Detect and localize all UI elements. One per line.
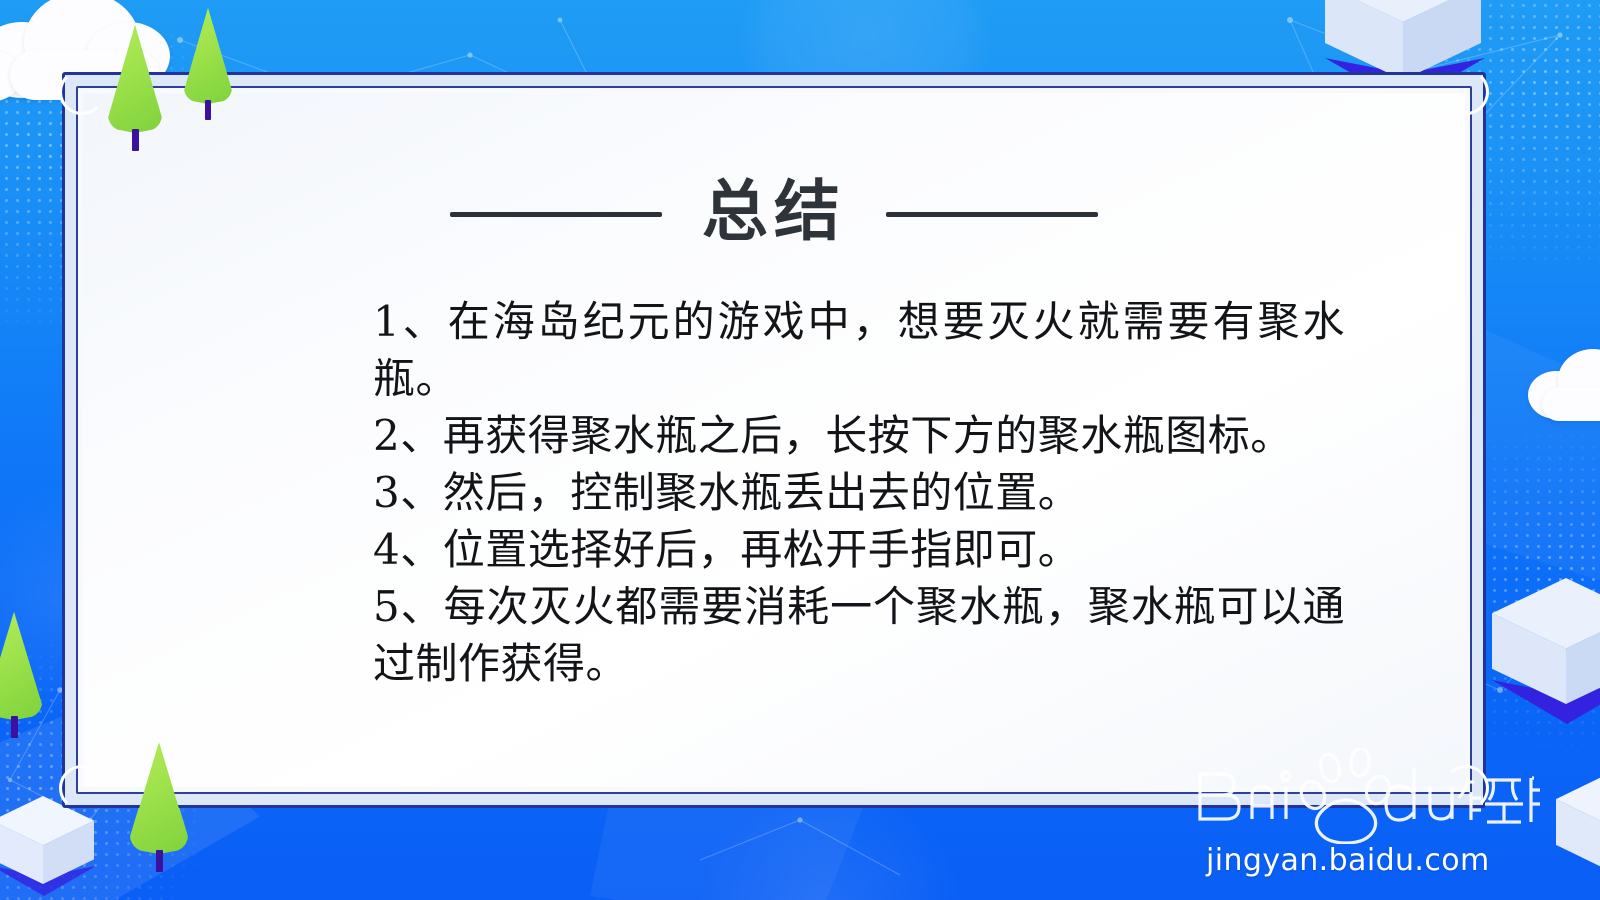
cube-shadow-bottom-left [0, 866, 96, 896]
summary-line-4: 4、位置选择好后，再松开手指即可。 [373, 521, 1345, 578]
summary-line-3: 3、然后，控制聚水瓶丢出去的位置。 [373, 464, 1345, 521]
summary-line-2: 2、再获得聚水瓶之后，长按下方的聚水瓶图标。 [373, 407, 1345, 464]
frame-notch-top-left-icon [59, 69, 105, 115]
page-title: 总结 [702, 179, 846, 245]
frame-inner-border: 总结 1、在海岛纪元的游戏中，想要灭火就需要有聚水瓶。 2、再获得聚水瓶之后，长… [76, 86, 1472, 794]
cube-right-mid-icon [1492, 578, 1600, 704]
title-rule-left-icon [450, 212, 662, 217]
tree-overlap-top-left-2-icon [184, 8, 232, 120]
frame-notch-bottom-left-icon [59, 765, 105, 811]
tree-overlap-top-left-1-icon [108, 25, 162, 151]
frame-notch-top-right-icon [1443, 69, 1489, 115]
summary-line-5: 5、每次灭火都需要消耗一个聚水瓶，聚水瓶可以通过制作获得。 [373, 578, 1345, 692]
cube-bottom-right-icon [1556, 770, 1600, 874]
title-row: 总结 [83, 181, 1465, 247]
summary-line-1: 1、在海岛纪元的游戏中，想要灭火就需要有聚水瓶。 [373, 293, 1345, 407]
cloud-right-mid-icon [1522, 345, 1600, 425]
title-rule-right-icon [886, 212, 1098, 217]
cube-top-right-icon [1325, 0, 1481, 80]
slide-canvas: 总结 1、在海岛纪元的游戏中，想要灭火就需要有聚水瓶。 2、再获得聚水瓶之后，长… [0, 0, 1600, 900]
slide-content: 总结 1、在海岛纪元的游戏中，想要灭火就需要有聚水瓶。 2、再获得聚水瓶之后，长… [83, 93, 1465, 787]
watermark-url: jingyan.baidu.com [1206, 843, 1490, 878]
content-frame: 总结 1、在海岛纪元的游戏中，想要灭火就需要有聚水瓶。 2、再获得聚水瓶之后，长… [62, 72, 1486, 808]
frame-notch-bottom-right-icon [1443, 765, 1489, 811]
summary-body: 1、在海岛纪元的游戏中，想要灭火就需要有聚水瓶。 2、再获得聚水瓶之后，长按下方… [373, 293, 1345, 692]
frame-outer-border: 总结 1、在海岛纪元的游戏中，想要灭火就需要有聚水瓶。 2、再获得聚水瓶之后，长… [62, 72, 1486, 808]
tree-overlap-bottom-left-icon [130, 742, 188, 872]
tree-overlap-left-mid-icon [0, 612, 42, 738]
frame-page-surface: 总结 1、在海岛纪元的游戏中，想要灭火就需要有聚水瓶。 2、再获得聚水瓶之后，长… [83, 93, 1465, 787]
cube-shadow-right-mid [1492, 680, 1600, 724]
